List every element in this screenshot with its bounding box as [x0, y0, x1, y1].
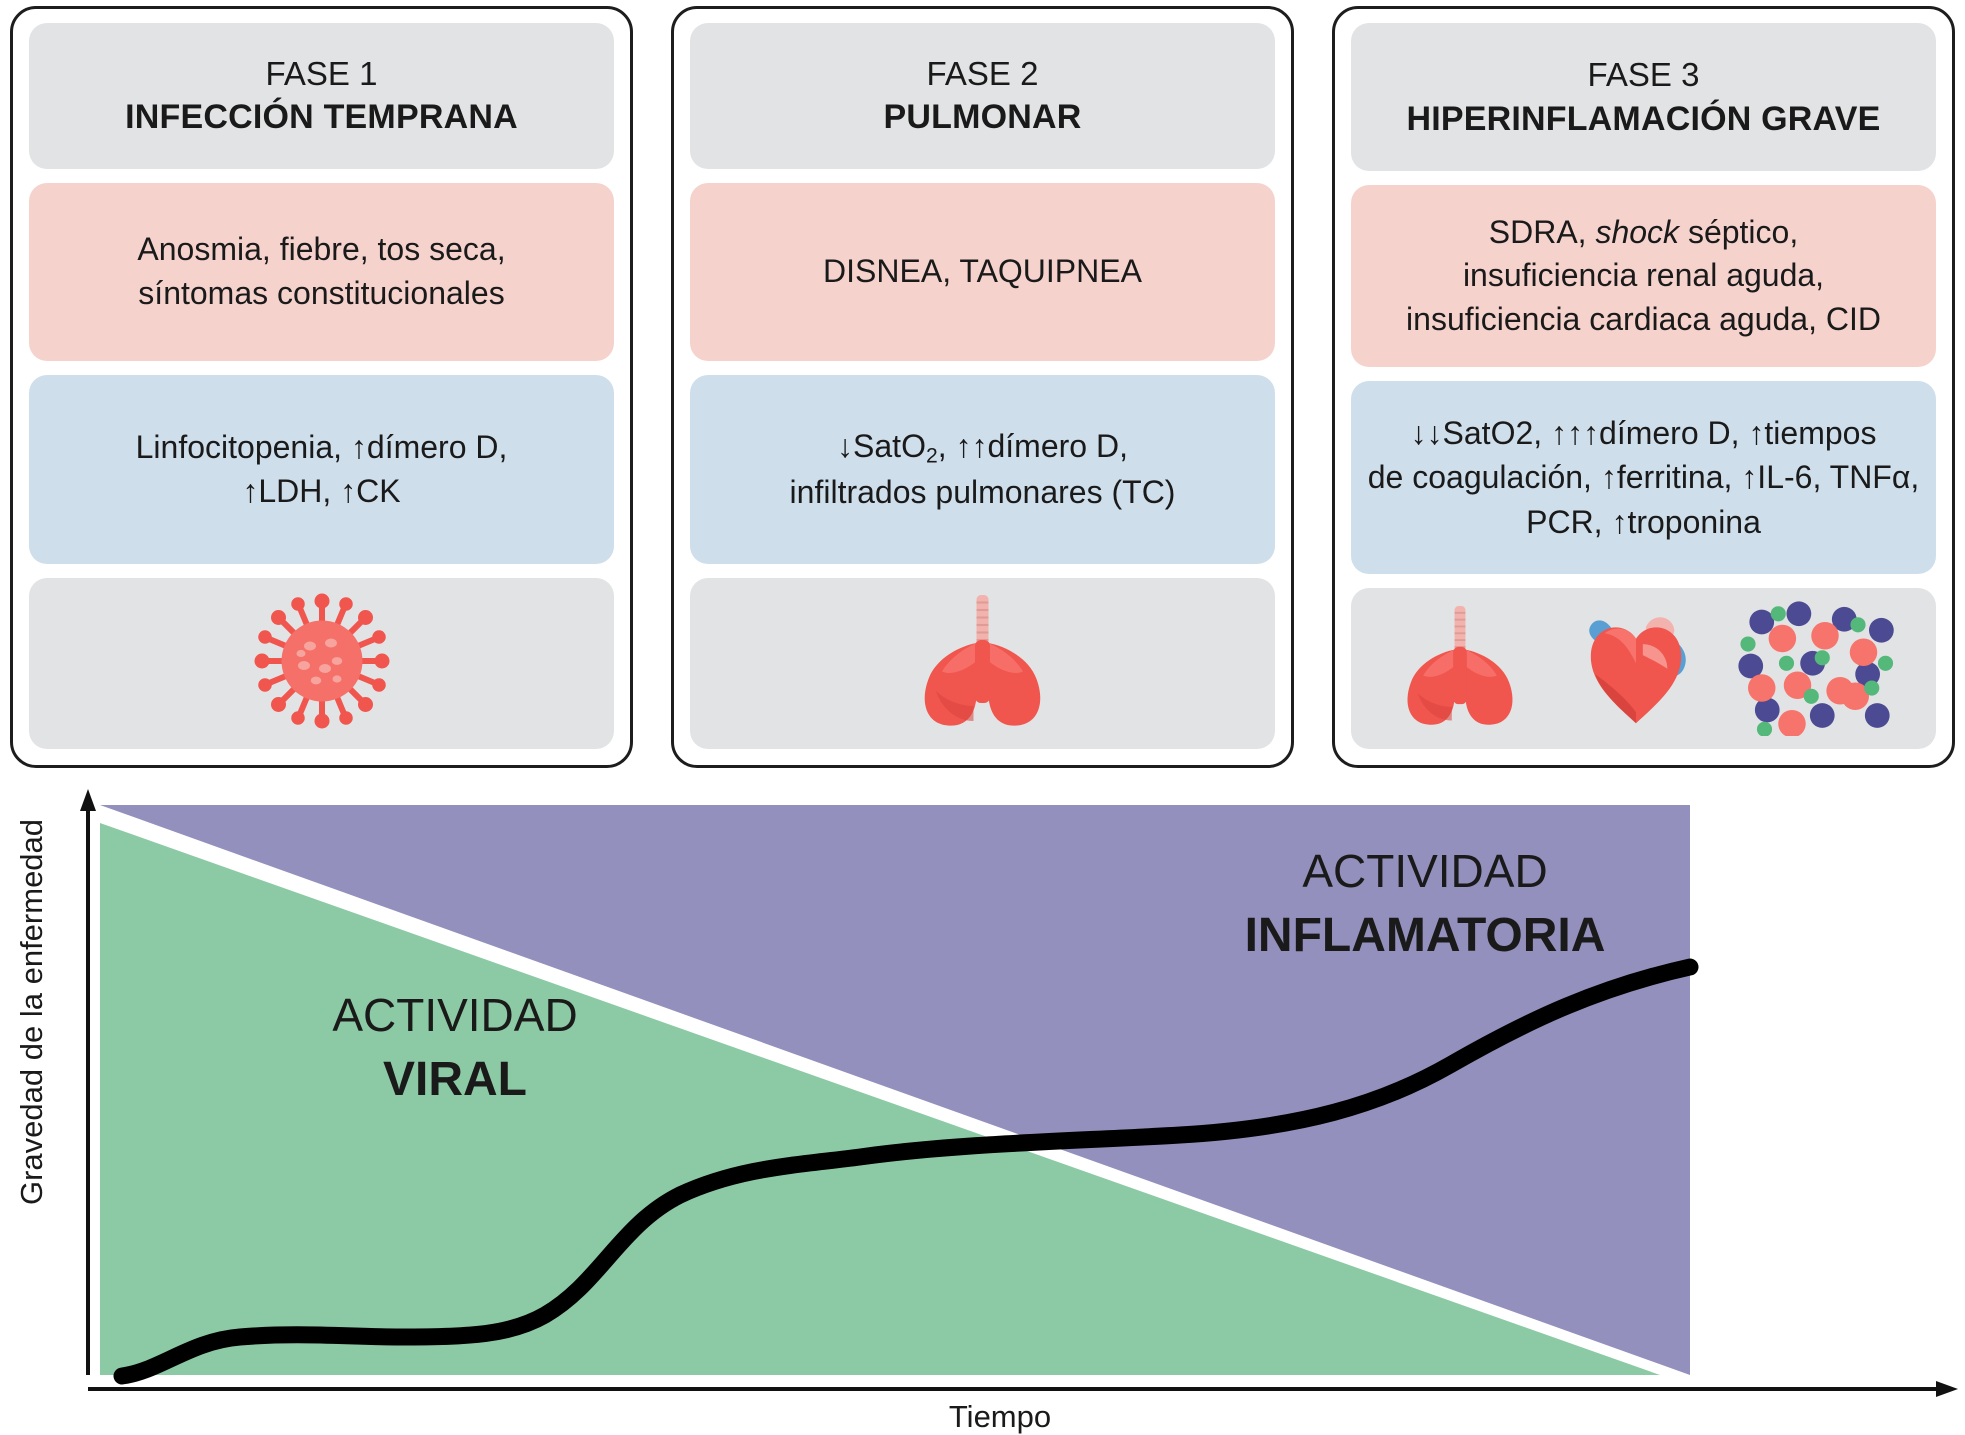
lungs-icon — [900, 586, 1065, 741]
phase-panel-1: FASE 1 INFECCIÓN TEMPRANA Anosmia, fiebr… — [10, 6, 633, 768]
phase-3-symptom-line-3: insuficiencia cardiaca aguda, CID — [1406, 298, 1881, 342]
phase-3-symptom-line-1: SDRA, shock séptico, — [1489, 211, 1798, 255]
phase-3-lab-line-2: de coagulación, ↑ferritina, ↑IL-6, TNFα, — [1368, 455, 1919, 499]
severity-chart: Gravedad de la enfermedad Tiempo ACTIVID… — [0, 775, 1965, 1435]
inflammatory-area-label-bottom: INFLAMATORIA — [1245, 909, 1606, 962]
virus-icon — [247, 586, 397, 741]
phase-2-lab-line-2: infiltrados pulmonares (TC) — [790, 470, 1176, 514]
phase-3-title: FASE 3 — [1588, 53, 1700, 97]
phase-1-subtitle: INFECCIÓN TEMPRANA — [125, 95, 518, 140]
phase-1-labs-box: Linfocitopenia, ↑dímero D, ↑LDH, ↑CK — [29, 375, 614, 564]
phase-1-symptom-line-2: síntomas constitucionales — [138, 272, 504, 316]
phase-3-subtitle: HIPERINFLAMACIÓN GRAVE — [1406, 97, 1880, 142]
phase-1-icons-box — [29, 578, 614, 749]
x-axis-label: Tiempo — [949, 1399, 1051, 1434]
phase-2-symptom-line-1: DISNEA, TAQUIPNEA — [823, 250, 1142, 294]
phase-3-symptom-line-2: insuficiencia renal aguda, — [1463, 254, 1824, 298]
lungs-icon — [1385, 596, 1535, 741]
phase-3-lab-line-3: PCR, ↑troponina — [1526, 500, 1761, 544]
phase-3-lab-line-1: ↓↓SatO2, ↑↑↑dímero D, ↑tiempos — [1411, 411, 1877, 455]
phase-3-symptoms-box: SDRA, shock séptico, insuficiencia renal… — [1351, 185, 1936, 366]
phase-1-symptoms-box: Anosmia, fiebre, tos seca, síntomas cons… — [29, 183, 614, 361]
phase-2-subtitle: PULMONAR — [883, 95, 1081, 140]
phase-3-title-box: FASE 3 HIPERINFLAMACIÓN GRAVE — [1351, 23, 1936, 171]
cytokines-icon — [1737, 596, 1902, 741]
phase-1-title: FASE 1 — [266, 52, 378, 96]
x-axis — [88, 1381, 1958, 1397]
phase-3-labs-box: ↓↓SatO2, ↑↑↑dímero D, ↑tiempos de coagul… — [1351, 381, 1936, 574]
phase-1-lab-line-1: Linfocitopenia, ↑dímero D, — [136, 425, 508, 469]
viral-area-label-bottom: VIRAL — [383, 1053, 527, 1106]
phase-2-symptoms-box: DISNEA, TAQUIPNEA — [690, 183, 1275, 361]
inflammatory-area-label-top: ACTIVIDAD — [1302, 845, 1547, 897]
y-axis — [80, 789, 96, 1375]
phase-2-labs-box: ↓SatO2, ↑↑dímero D, infiltrados pulmonar… — [690, 375, 1275, 564]
heart-icon — [1561, 596, 1711, 741]
phase-panel-2: FASE 2 PULMONAR DISNEA, TAQUIPNEA ↓SatO2… — [671, 6, 1294, 768]
phase-2-title-box: FASE 2 PULMONAR — [690, 23, 1275, 169]
y-axis-label: Gravedad de la enfermedad — [14, 819, 49, 1205]
phase-3-icons-box — [1351, 588, 1936, 749]
phase-2-lab-line-1: ↓SatO2, ↑↑dímero D, — [837, 424, 1128, 470]
phases-container: FASE 1 INFECCIÓN TEMPRANA Anosmia, fiebr… — [0, 0, 1965, 775]
phase-panel-3: FASE 3 HIPERINFLAMACIÓN GRAVE SDRA, shoc… — [1332, 6, 1955, 768]
phase-1-lab-line-2: ↑LDH, ↑CK — [242, 469, 400, 513]
phase-1-title-box: FASE 1 INFECCIÓN TEMPRANA — [29, 23, 614, 169]
viral-area-label-top: ACTIVIDAD — [332, 989, 577, 1041]
phase-1-symptom-line-1: Anosmia, fiebre, tos seca, — [137, 228, 505, 272]
phase-2-icons-box — [690, 578, 1275, 749]
phase-2-title: FASE 2 — [927, 52, 1039, 96]
